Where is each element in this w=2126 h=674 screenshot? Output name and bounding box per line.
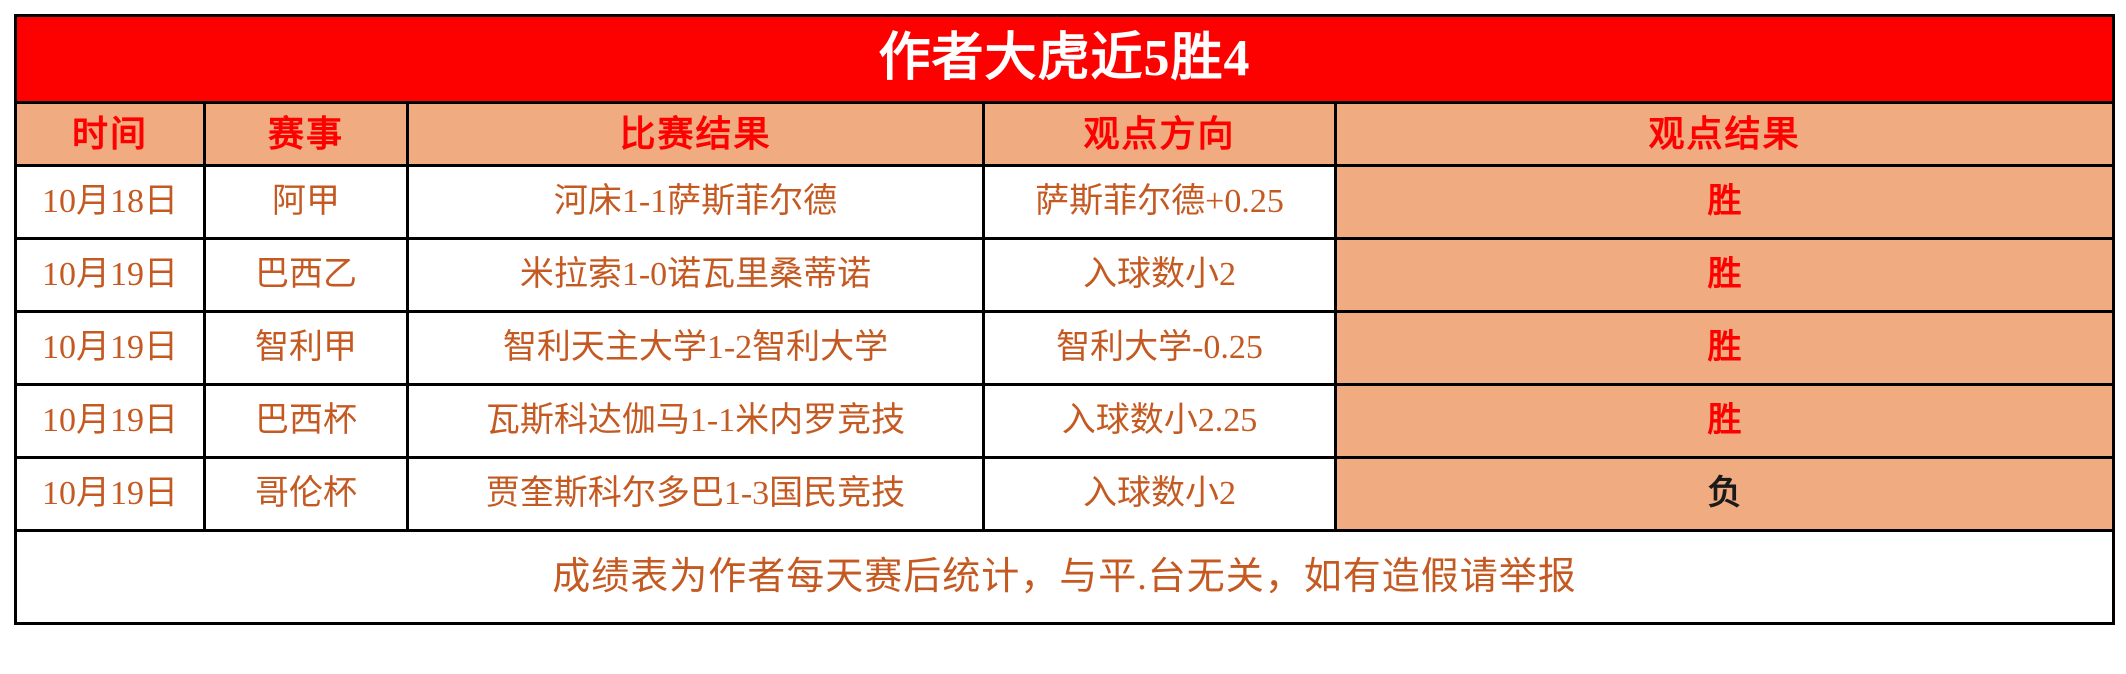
cell-time: 10月19日 xyxy=(16,385,205,458)
cell-league: 阿甲 xyxy=(205,166,408,239)
cell-view-direction: 萨斯菲尔德+0.25 xyxy=(984,166,1336,239)
cell-match-result: 米拉索1-0诺瓦里桑蒂诺 xyxy=(408,239,984,312)
column-header-view-direction-label: 观点方向 xyxy=(1083,114,1235,154)
cell-view-direction-text: 萨斯菲尔德+0.25 xyxy=(1035,183,1284,220)
cell-view-direction: 入球数小2.25 xyxy=(984,385,1336,458)
cell-view-direction: 智利大学-0.25 xyxy=(984,312,1336,385)
cell-match-result-text: 智利天主大学1-2智利大学 xyxy=(503,329,888,366)
cell-match-result: 河床1-1萨斯菲尔德 xyxy=(408,166,984,239)
column-header-league: 赛事 xyxy=(205,103,408,166)
cell-time: 10月19日 xyxy=(16,312,205,385)
cell-match-result: 贾奎斯科尔多巴1-3国民竞技 xyxy=(408,458,984,531)
record-sheet: 作者大虎近5胜4 时间 赛事 比赛结果 观点方向 观点结果 xyxy=(0,0,2126,674)
cell-league-text: 哥伦杯 xyxy=(255,475,357,512)
footer-row: 成绩表为作者每天赛后统计，与平.台无关，如有造假请举报 xyxy=(16,531,2114,624)
cell-time-text: 10月19日 xyxy=(42,475,178,512)
cell-league: 哥伦杯 xyxy=(205,458,408,531)
cell-view-result: 胜 xyxy=(1336,312,2114,385)
cell-league: 巴西杯 xyxy=(205,385,408,458)
status-badge: 胜 xyxy=(1708,402,1742,439)
column-header-time: 时间 xyxy=(16,103,205,166)
cell-view-direction-text: 入球数小2 xyxy=(1083,256,1236,293)
table-row: 10月19日 哥伦杯 贾奎斯科尔多巴1-3国民竞技 入球数小2 负 xyxy=(16,458,2114,531)
column-header-match-result-label: 比赛结果 xyxy=(619,114,771,154)
table-row: 10月19日 智利甲 智利天主大学1-2智利大学 智利大学-0.25 胜 xyxy=(16,312,2114,385)
cell-league-text: 阿甲 xyxy=(272,183,340,220)
cell-match-result: 瓦斯科达伽马1-1米内罗竞技 xyxy=(408,385,984,458)
cell-league: 智利甲 xyxy=(205,312,408,385)
cell-view-result: 胜 xyxy=(1336,239,2114,312)
cell-time: 10月19日 xyxy=(16,239,205,312)
status-badge: 胜 xyxy=(1708,183,1742,220)
cell-match-result-text: 河床1-1萨斯菲尔德 xyxy=(554,183,837,220)
cell-view-direction: 入球数小2 xyxy=(984,239,1336,312)
status-badge: 胜 xyxy=(1708,256,1742,293)
title-row: 作者大虎近5胜4 xyxy=(16,16,2114,103)
cell-match-result-text: 米拉索1-0诺瓦里桑蒂诺 xyxy=(520,256,871,293)
column-header-match-result: 比赛结果 xyxy=(408,103,984,166)
cell-league-text: 巴西乙 xyxy=(255,256,357,293)
table-row: 10月19日 巴西杯 瓦斯科达伽马1-1米内罗竞技 入球数小2.25 胜 xyxy=(16,385,2114,458)
column-header-view-result: 观点结果 xyxy=(1336,103,2114,166)
cell-league: 巴西乙 xyxy=(205,239,408,312)
table-row: 10月18日 阿甲 河床1-1萨斯菲尔德 萨斯菲尔德+0.25 胜 xyxy=(16,166,2114,239)
cell-time: 10月18日 xyxy=(16,166,205,239)
status-badge: 负 xyxy=(1708,475,1742,512)
cell-time-text: 10月18日 xyxy=(42,183,178,220)
cell-time-text: 10月19日 xyxy=(42,329,178,366)
cell-view-direction-text: 智利大学-0.25 xyxy=(1056,329,1263,366)
cell-time-text: 10月19日 xyxy=(42,402,178,439)
cell-match-result: 智利天主大学1-2智利大学 xyxy=(408,312,984,385)
cell-match-result-text: 瓦斯科达伽马1-1米内罗竞技 xyxy=(486,402,905,439)
table-header-row: 时间 赛事 比赛结果 观点方向 观点结果 xyxy=(16,103,2114,166)
cell-view-result: 胜 xyxy=(1336,385,2114,458)
banner-title-cell: 作者大虎近5胜4 xyxy=(16,16,2114,103)
column-header-view-direction: 观点方向 xyxy=(984,103,1336,166)
cell-view-direction-text: 入球数小2.25 xyxy=(1062,402,1258,439)
cell-time: 10月19日 xyxy=(16,458,205,531)
cell-league-text: 智利甲 xyxy=(255,329,357,366)
column-header-view-result-label: 观点结果 xyxy=(1649,114,1801,154)
column-header-league-label: 赛事 xyxy=(268,114,344,154)
status-badge: 胜 xyxy=(1708,329,1742,366)
cell-view-result: 胜 xyxy=(1336,166,2114,239)
footer-note: 成绩表为作者每天赛后统计，与平.台无关，如有造假请举报 xyxy=(552,556,1577,598)
cell-view-result: 负 xyxy=(1336,458,2114,531)
cell-view-direction: 入球数小2 xyxy=(984,458,1336,531)
cell-view-direction-text: 入球数小2 xyxy=(1083,475,1236,512)
cell-time-text: 10月19日 xyxy=(42,256,178,293)
table-row: 10月19日 巴西乙 米拉索1-0诺瓦里桑蒂诺 入球数小2 胜 xyxy=(16,239,2114,312)
performance-record-table: 作者大虎近5胜4 时间 赛事 比赛结果 观点方向 观点结果 xyxy=(14,14,2115,625)
footer-note-cell: 成绩表为作者每天赛后统计，与平.台无关，如有造假请举报 xyxy=(16,531,2114,624)
cell-league-text: 巴西杯 xyxy=(255,402,357,439)
column-header-time-label: 时间 xyxy=(72,114,148,154)
banner-title: 作者大虎近5胜4 xyxy=(879,30,1251,87)
cell-match-result-text: 贾奎斯科尔多巴1-3国民竞技 xyxy=(486,475,905,512)
